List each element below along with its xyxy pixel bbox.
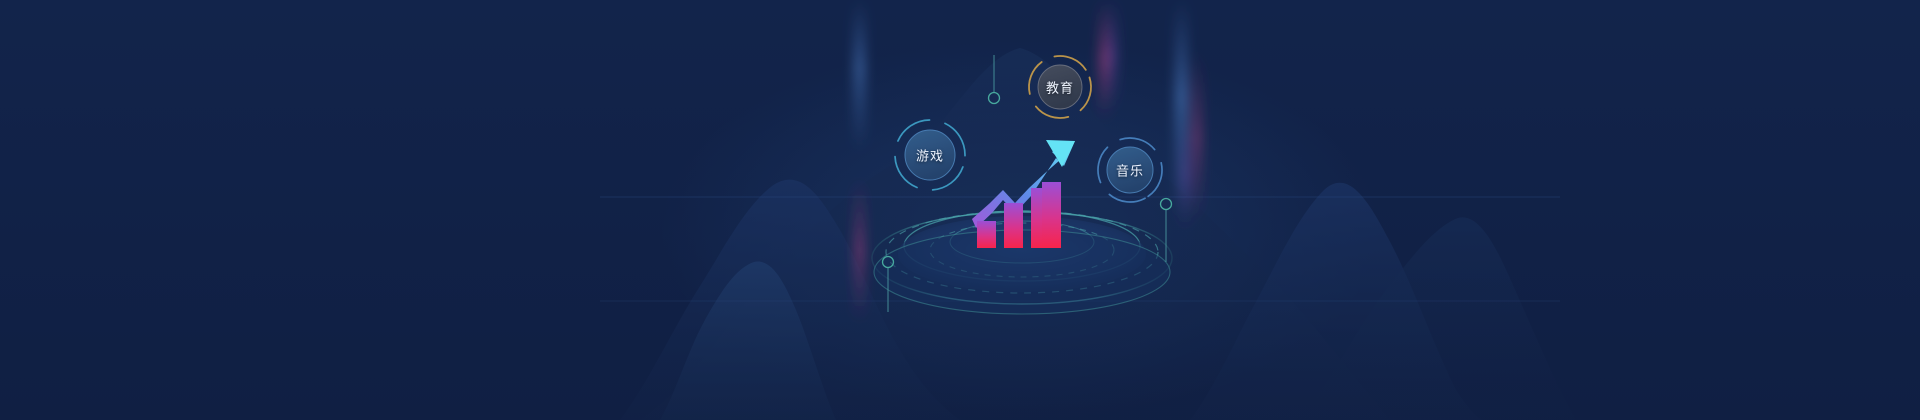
badge-face[interactable] xyxy=(905,130,955,180)
badge-face[interactable] xyxy=(1038,65,1082,109)
badge-music[interactable] xyxy=(1087,127,1174,214)
badge-education[interactable] xyxy=(1021,48,1099,126)
badge-game[interactable] xyxy=(885,110,975,200)
badges-layer xyxy=(0,0,1920,420)
banner-stage: 游戏 教育 音乐 xyxy=(0,0,1920,420)
badge-face[interactable] xyxy=(1107,147,1153,193)
